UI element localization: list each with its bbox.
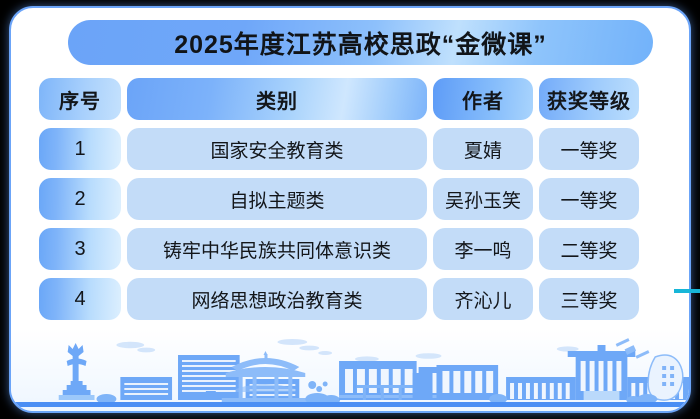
header-cell-index: 序号	[39, 78, 121, 120]
header-cell-author: 作者	[433, 78, 533, 120]
cell-author: 李一鸣	[433, 228, 533, 270]
cell-category: 铸牢中华民族共同体意识类	[127, 228, 427, 270]
table-header-row: 序号 类别 作者 获奖等级	[39, 78, 684, 120]
cell-index: 1	[39, 128, 121, 170]
cell-index: 4	[39, 278, 121, 320]
cell-category: 网络思想政治教育类	[127, 278, 427, 320]
cell-award: 三等奖	[539, 278, 639, 320]
table-row: 2 自拟主题类 吴孙玉笑 一等奖	[39, 178, 684, 220]
cell-author: 吴孙玉笑	[433, 178, 533, 220]
cell-award: 一等奖	[539, 128, 639, 170]
cell-index: 3	[39, 228, 121, 270]
award-table: 序号 类别 作者 获奖等级 1 国家安全教育类 夏婧 一等奖 2 自拟主题类 吴…	[39, 78, 684, 328]
cell-index: 2	[39, 178, 121, 220]
cell-award: 一等奖	[539, 178, 639, 220]
title-banner: 2025年度江苏高校思政“金微课”	[68, 20, 653, 65]
cell-author: 齐沁儿	[433, 278, 533, 320]
cell-author: 夏婧	[433, 128, 533, 170]
table-row: 1 国家安全教育类 夏婧 一等奖	[39, 128, 684, 170]
edge-accent-line	[674, 289, 700, 293]
city-skyline-illustration	[11, 329, 689, 411]
screenshot-stage: 2025年度江苏高校思政“金微课” 序号 类别 作者 获奖等级 1 国家安全教育…	[0, 0, 700, 419]
table-row: 4 网络思想政治教育类 齐沁儿 三等奖	[39, 278, 684, 320]
page-title: 2025年度江苏高校思政“金微课”	[174, 25, 547, 61]
header-cell-category: 类别	[127, 78, 427, 120]
cell-award: 二等奖	[539, 228, 639, 270]
cell-category: 自拟主题类	[127, 178, 427, 220]
table-row: 3 铸牢中华民族共同体意识类 李一鸣 二等奖	[39, 228, 684, 270]
content-card: 2025年度江苏高校思政“金微课” 序号 类别 作者 获奖等级 1 国家安全教育…	[9, 6, 691, 413]
cell-category: 国家安全教育类	[127, 128, 427, 170]
header-cell-award: 获奖等级	[539, 78, 639, 120]
